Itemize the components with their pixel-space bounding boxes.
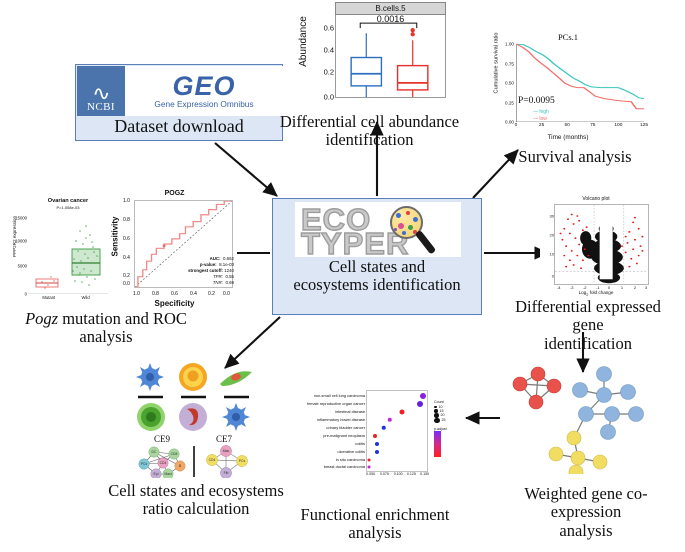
svg-text:CD4: CD4 [160, 461, 167, 465]
enrichment-dot-6 [375, 442, 379, 446]
svg-text:Mac: Mac [223, 449, 230, 453]
svg-text:Fib: Fib [224, 471, 229, 475]
enrichment-term-3: inflammatory bowel disease [291, 418, 367, 422]
enrichment-term-2: intestinal disease [291, 410, 367, 414]
volcano-title: Volcano plot [540, 196, 652, 202]
survival-title: PCs.1 [488, 32, 648, 42]
caption-wgcna: Weighted gene co-expression analysis [490, 485, 682, 540]
caption-pogz-rest: mutation and ROC [58, 309, 187, 328]
caption-func-line1: Functional enrichment [285, 506, 465, 524]
roc-statistics: AUC: 0.662 p-value: 8.1e-03 strongest cu… [188, 256, 234, 286]
enrichment-term-1: female reproductive organ cancer [291, 402, 367, 406]
ecotyper-center-box: ECO TYPER Cell states and ecosystems ide… [272, 198, 482, 315]
caption-pogz: Pogz mutation and ROC analysis [6, 310, 206, 347]
ncbi-logo: ∿ NCBI [77, 66, 125, 116]
caption-pogz-line1: Pogz mutation and ROC [6, 310, 206, 328]
caption-pogz-line2: analysis [6, 328, 206, 346]
enrichment-dot-3 [388, 418, 393, 423]
enrichment-term-7: ulcerative colitis [291, 450, 367, 454]
survival-panel: PCs.1 Cumulative survival ratio Time (mo… [488, 30, 648, 142]
svg-text:CD8: CD8 [171, 452, 178, 456]
enrichment-colorbar [434, 431, 441, 457]
ecotyper-logo: ECO TYPER [295, 202, 461, 257]
survival-legend-high: — high [533, 109, 549, 115]
caption-survival: Survival analysis [480, 148, 670, 166]
enrichment-term-8: in situ carcinoma [291, 458, 367, 462]
geo-dataset-box: ∿ NCBI GEO Gene Expression Omnibus Datas… [75, 64, 283, 141]
caption-wgcna-line2: analysis [490, 522, 682, 540]
svg-text:CE7: CE7 [216, 434, 233, 444]
enrichment-dot-7 [375, 450, 379, 454]
caption-pogz-gene: Pogz [25, 309, 58, 328]
enrichment-legend-padjust-title: p.adjust [434, 427, 447, 431]
ovarian-boxplot-panel: Ovarian cancer P=1.008e-03 PPP2R2 expres… [12, 196, 110, 308]
enrichment-dot-8 [367, 458, 370, 461]
ovarian-plot-area: 0 5000 10000 15000 Mutant Wild [28, 211, 108, 294]
roc-panel: POGZ Sensitivity Specificity 1.0 0.8 0.6… [112, 190, 237, 310]
survival-legend-low: — low [533, 116, 547, 122]
enrichment-term-6: colitis [291, 442, 367, 446]
enrichment-legend: Count 10 15 20 25 p.adjust [434, 400, 447, 457]
magnifier-handle-icon [415, 230, 437, 255]
boxplot-area: 0.0 0.2 0.4 0.6 0.0016 [335, 15, 446, 98]
enrichment-term-5: pre-malignant neoplasm [291, 434, 367, 438]
boxplot-pvalue: 0.0016 [336, 14, 445, 24]
cell-states-cluster: CE9 CE7 DC CD8 PCs B CD4 Epi Mast Mac CD… [130, 360, 260, 478]
enrichment-term-9: breast ductal carcinoma [291, 465, 367, 469]
svg-text:CD4: CD4 [209, 458, 216, 462]
enrichment-dot-2 [399, 409, 404, 414]
caption-wgcna-line1: Weighted gene co-expression [490, 485, 682, 522]
boxplot-ylabel: Abundance [298, 16, 309, 67]
ovarian-ylabel: PPP2R2 expression [12, 216, 17, 257]
roc-xlabel: Specificity [112, 299, 237, 308]
svg-text:Epi: Epi [154, 472, 159, 476]
enrichment-dot-9 [367, 466, 370, 469]
caption-diff-line2: identification [262, 131, 477, 149]
svg-text:CE9: CE9 [154, 434, 171, 444]
spindle-cell-green-icon [220, 371, 252, 386]
enrichment-term-4: urinary bladder cancer [291, 426, 367, 430]
caption-functional: Functional enrichment analysis [285, 506, 465, 543]
volcano-panel: Volcano plot Log2 fold change 0 10 20 30… [540, 196, 652, 298]
caption-ratio-line1: Cell states and ecosystems [88, 482, 304, 500]
geo-caption: Dataset download [76, 116, 282, 136]
svg-text:PCs: PCs [141, 462, 148, 466]
caption-deg-line1: Differential expressed gene [498, 298, 678, 335]
geo-wordmark: GEO [172, 73, 235, 99]
star-cell-blue-icon [136, 363, 164, 391]
caption-deg-line2: identification [498, 335, 678, 353]
caption-differential-abundance: Differential cell abundance identificati… [262, 113, 477, 150]
enrichment-dot-5 [373, 434, 377, 438]
enrichment-dot-4 [382, 426, 387, 431]
boxplot-panel: B.cells.5 Abundance 0.0 0.2 0.4 0.6 0.00… [300, 2, 448, 110]
svg-text:PCs: PCs [239, 459, 246, 463]
caption-diff-line1: Differential cell abundance [262, 113, 477, 131]
wgcna-network [508, 362, 658, 474]
enrichment-plot-area: non-small cell lung carcinoma female rep… [366, 390, 428, 472]
round-cell-green-icon [137, 403, 165, 431]
enrichment-dot-1 [417, 401, 423, 407]
macrophage-cell-purple-icon [179, 403, 207, 431]
survival-pvalue: P=0.0095 [518, 96, 555, 106]
roc-title: POGZ [112, 190, 237, 197]
ecotyper-caption-line1: Cell states and [273, 258, 481, 276]
ecotyper-caption-line2: ecosystems identification [273, 276, 481, 294]
volcano-plot-area: 0 10 20 30 -4 -3 -2 -1 0 1 2 3 [554, 204, 649, 285]
caption-deg: Differential expressed gene identificati… [498, 298, 678, 353]
ovarian-subtitle: P=1.008e-03 [26, 205, 110, 210]
svg-text:DC: DC [152, 450, 157, 454]
caption-ratio: Cell states and ecosystems ratio calcula… [88, 482, 304, 519]
roc-ylabel: Sensitivity [111, 216, 120, 256]
volcano-xlabel: Log2 fold change [540, 290, 652, 297]
round-cell-yellow-icon [179, 363, 207, 391]
ovarian-title: Ovarian cancer [26, 198, 110, 204]
caption-func-line2: analysis [285, 524, 465, 542]
enrichment-legend-count-title: Count [434, 400, 447, 404]
geo-title-block: GEO Gene Expression Omnibus [125, 66, 283, 116]
ecotyper-caption: Cell states and ecosystems identificatio… [273, 258, 481, 295]
survival-ylabel: Cumulative survival ratio [493, 33, 499, 94]
star-cell-blue-2-icon [222, 403, 250, 431]
geo-subtitle: Gene Expression Omnibus [154, 99, 253, 109]
enrichment-dot-0 [420, 393, 426, 399]
enrichment-term-0: non-small cell lung carcinoma [291, 394, 367, 398]
caption-ratio-line2: ratio calculation [88, 500, 304, 518]
geo-logo: ∿ NCBI GEO Gene Expression Omnibus [77, 66, 283, 116]
enrichment-panel: non-small cell lung carcinoma female rep… [288, 388, 463, 486]
svg-text:Mast: Mast [164, 472, 171, 476]
dna-helix-icon: ∿ [92, 87, 110, 101]
survival-xlabel: Time (months) [488, 134, 648, 141]
